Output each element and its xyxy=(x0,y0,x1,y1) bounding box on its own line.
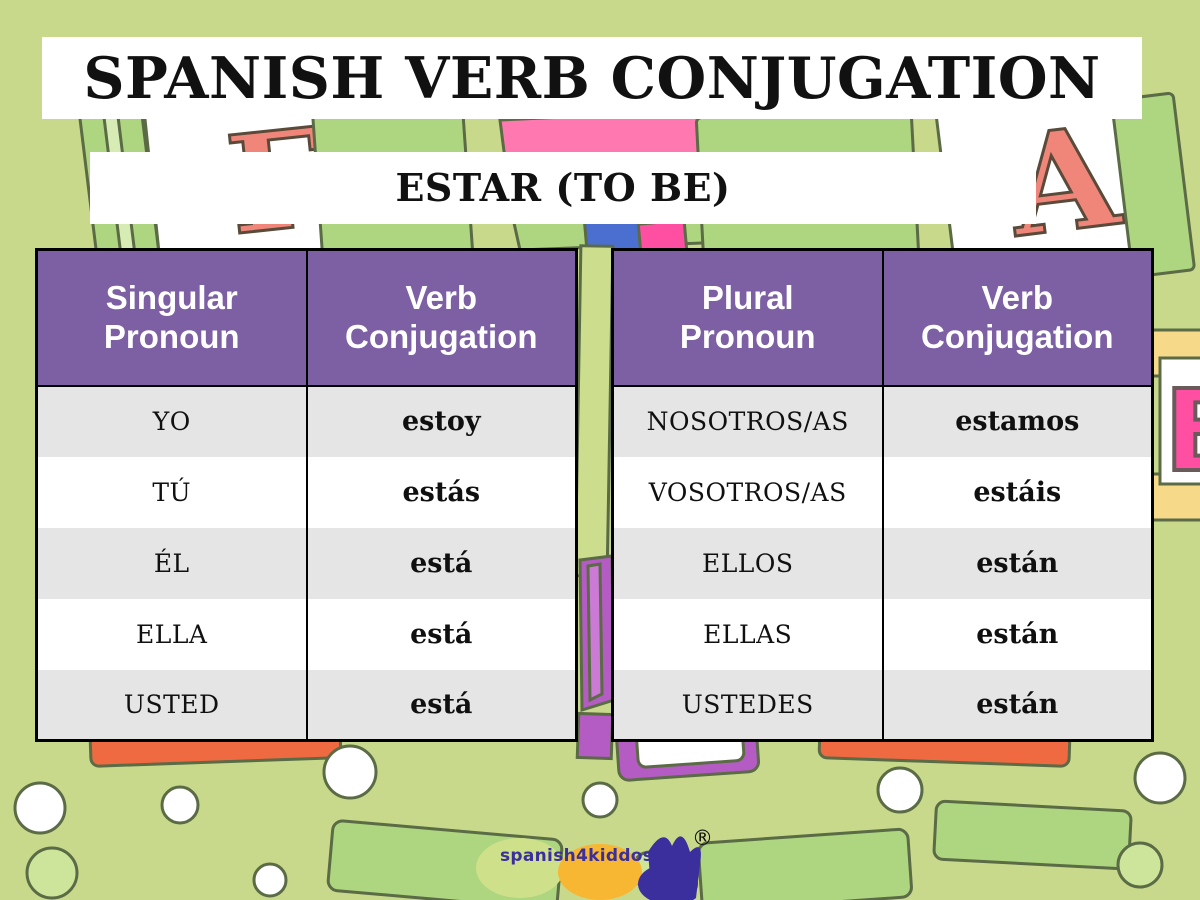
table-row: YO estoy xyxy=(37,386,577,457)
cell-pronoun: USTEDES xyxy=(613,670,883,741)
cell-pronoun: USTED xyxy=(37,670,307,741)
table-row: ELLA está xyxy=(37,599,577,670)
column-header-singular-pronoun: Singular Pronoun xyxy=(37,250,307,386)
column-header-plural-pronoun: Plural Pronoun xyxy=(613,250,883,386)
cell-pronoun: VOSOTROS/AS xyxy=(613,457,883,528)
cell-pronoun: ÉL xyxy=(37,528,307,599)
title-banner: SPANISH VERB CONJUGATION xyxy=(42,37,1142,119)
singular-table-body: YO estoy TÚ estás ÉL está ELLA está USTE… xyxy=(37,386,577,741)
singular-table-header: Singular Pronoun Verb Conjugation xyxy=(37,250,577,386)
column-header-line1: Plural xyxy=(702,279,794,316)
table-row: TÚ estás xyxy=(37,457,577,528)
column-header-line2: Pronoun xyxy=(680,318,816,355)
table-header-row: Plural Pronoun Verb Conjugation xyxy=(613,250,1153,386)
column-header-line1: Singular xyxy=(106,279,238,316)
singular-conjugation-table: Singular Pronoun Verb Conjugation YO est… xyxy=(35,248,578,742)
table-row: ÉL está xyxy=(37,528,577,599)
table-header-row: Singular Pronoun Verb Conjugation xyxy=(37,250,577,386)
cell-pronoun: YO xyxy=(37,386,307,457)
cell-pronoun: ELLAS xyxy=(613,599,883,670)
cell-verb: están xyxy=(883,599,1153,670)
page-subtitle: ESTAR (TO BE) xyxy=(395,169,730,207)
registered-trademark-icon: ® xyxy=(692,826,713,850)
cell-verb: están xyxy=(883,670,1153,741)
cell-pronoun: NOSOTROS/AS xyxy=(613,386,883,457)
column-header-line2: Pronoun xyxy=(104,318,240,355)
logo-wordmark: spanish4kiddos xyxy=(500,846,653,866)
column-header-singular-verb: Verb Conjugation xyxy=(307,250,577,386)
table-row: USTED está xyxy=(37,670,577,741)
table-row: USTEDES están xyxy=(613,670,1153,741)
column-header-line1: Verb xyxy=(405,279,477,316)
column-header-plural-verb: Verb Conjugation xyxy=(883,250,1153,386)
cell-verb: estamos xyxy=(883,386,1153,457)
decor-gap-strip xyxy=(575,246,614,759)
plural-conjugation-table: Plural Pronoun Verb Conjugation NOSOTROS… xyxy=(611,248,1154,742)
table-row: VOSOTROS/AS estáis xyxy=(613,457,1153,528)
cell-verb: está xyxy=(307,599,577,670)
table-row: NOSOTROS/AS estamos xyxy=(613,386,1153,457)
column-header-line2: Conjugation xyxy=(921,318,1113,355)
table-row: ELLAS están xyxy=(613,599,1153,670)
brand-logo: spanish4kiddos ® xyxy=(470,818,730,896)
cell-pronoun: ELLA xyxy=(37,599,307,670)
cell-verb: está xyxy=(307,670,577,741)
plural-table-body: NOSOTROS/AS estamos VOSOTROS/AS estáis E… xyxy=(613,386,1153,741)
cell-verb: estáis xyxy=(883,457,1153,528)
page-title: SPANISH VERB CONJUGATION xyxy=(83,50,1100,107)
cell-pronoun: TÚ xyxy=(37,457,307,528)
subtitle-banner: ESTAR (TO BE) xyxy=(90,152,1036,224)
plural-table-header: Plural Pronoun Verb Conjugation xyxy=(613,250,1153,386)
table-row: ELLOS están xyxy=(613,528,1153,599)
cell-pronoun: ELLOS xyxy=(613,528,883,599)
cell-verb: están xyxy=(883,528,1153,599)
column-header-line2: Conjugation xyxy=(345,318,537,355)
svg-text:B: B xyxy=(1164,367,1200,497)
column-header-line1: Verb xyxy=(981,279,1053,316)
cell-verb: está xyxy=(307,528,577,599)
cell-verb: estoy xyxy=(307,386,577,457)
cell-verb: estás xyxy=(307,457,577,528)
decor-cards-right: B xyxy=(1152,330,1200,520)
